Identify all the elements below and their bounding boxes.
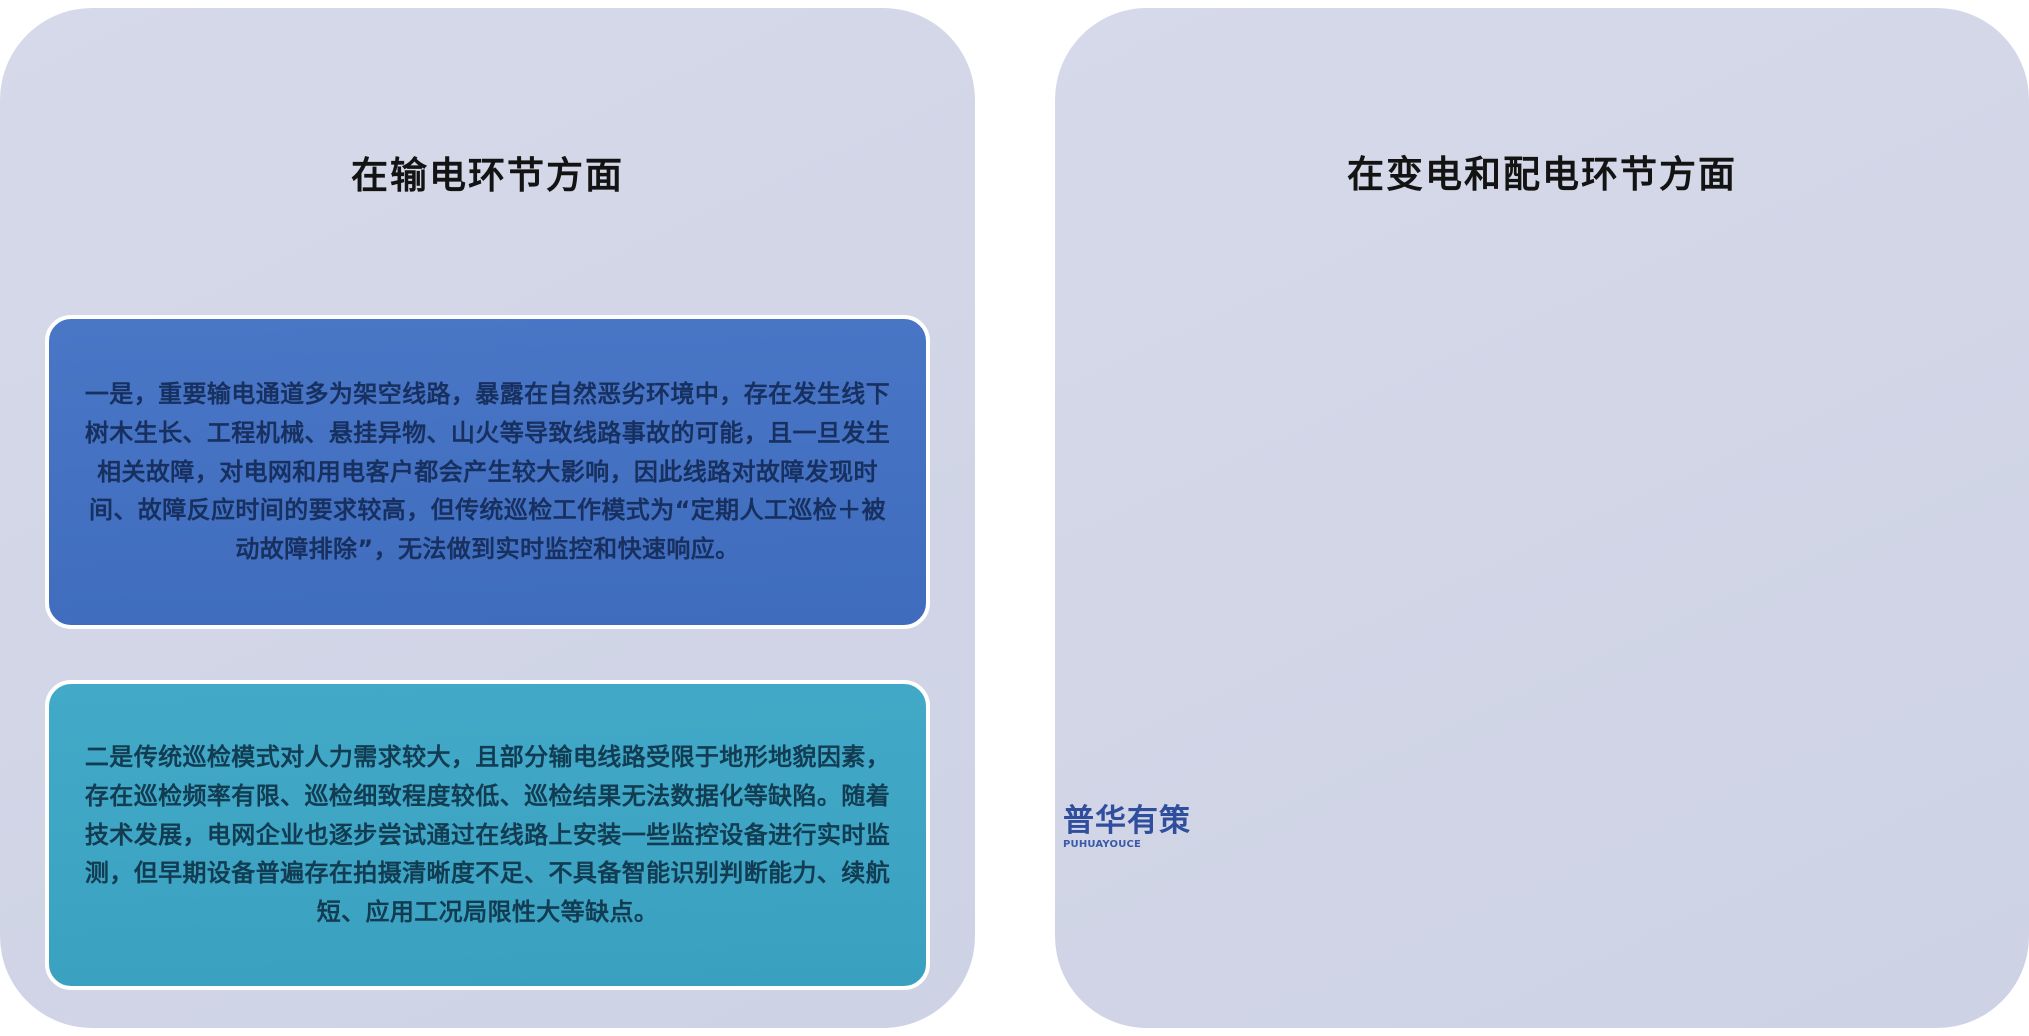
panel-transmission: 在输电环节方面 一是，重要输电通道多为架空线路，暴露在自然恶劣环境中，存在发生线… — [0, 8, 975, 1028]
card-transmission-point-1: 一是，重要输电通道多为架空线路，暴露在自然恶劣环境中，存在发生线下树木生长、工程… — [45, 315, 930, 629]
panel-substation-distribution: 在变电和配电环节方面 一是变电和配电环节设备种类繁多，结构复杂，隐患情况复杂不易… — [1055, 8, 2029, 1028]
card-transmission-point-1-text: 一是，重要输电通道多为架空线路，暴露在自然恶劣环境中，存在发生线下树木生长、工程… — [49, 375, 926, 569]
card-transmission-point-2: 二是传统巡检模式对人力需求较大，且部分输电线路受限于地形地貌因素，存在巡检频率有… — [45, 680, 930, 990]
panel-title-substation-distribution: 在变电和配电环节方面 — [1055, 144, 2029, 198]
card-transmission-point-2-text: 二是传统巡检模式对人力需求较大，且部分输电线路受限于地形地貌因素，存在巡检频率有… — [49, 738, 926, 932]
panel-title-transmission: 在输电环节方面 — [0, 145, 975, 199]
slide-canvas: 在输电环节方面 一是，重要输电通道多为架空线路，暴露在自然恶劣环境中，存在发生线… — [0, 0, 2029, 1036]
